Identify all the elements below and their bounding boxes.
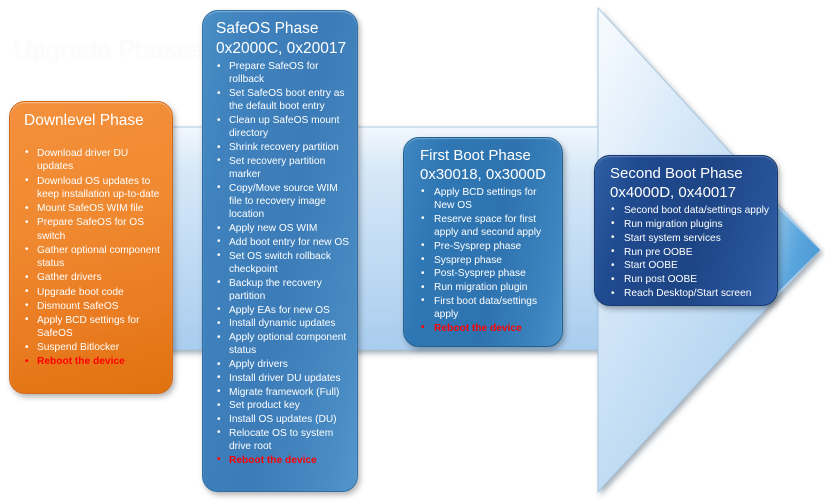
list-item: Install dynamic updates [216,317,351,330]
list-item: Migrate framework (Full) [216,386,351,399]
list-item: Set OS switch rollback checkpoint [216,250,351,277]
list-item: Add boot entry for new OS [216,236,351,249]
list-item: Backup the recovery partition [216,277,351,304]
list-item: Download OS updates to keep installation… [24,175,164,202]
list-item: Apply new OS WIM [216,222,351,235]
list-item: Run pre OOBE [610,246,771,259]
list-item: Reach Desktop/Start screen [610,287,771,300]
phase-title-downlevel: Downlevel Phase [24,112,164,131]
arrow-tip-highlight [778,208,820,292]
list-item: Install driver DU updates [216,372,351,385]
phase-code-first-boot: 0x30018, 0x3000D [420,166,556,184]
phase-item-list-first-boot: Apply BCD settings for New OS Reserve sp… [420,186,556,335]
list-item: Set recovery partition marker [216,155,351,182]
list-item: Download driver DU updates [24,147,164,174]
diagram-canvas: Upgrade Phases [0,0,825,501]
list-item-reboot: Reboot the device [216,454,351,467]
list-item: Gather optional component status [24,244,164,271]
list-item: Mount SafeOS WIM file [24,202,164,216]
list-item: Shrink recovery partition [216,141,351,154]
list-item: Sysprep phase [420,254,556,267]
list-item: Apply BCD settings for SafeOS [24,314,164,341]
list-item: Run post OOBE [610,273,771,286]
phase-box-first-boot[interactable]: First Boot Phase 0x30018, 0x3000D Apply … [403,137,563,347]
phase-box-downlevel[interactable]: Downlevel Phase Download driver DU updat… [9,101,173,394]
list-item: Start system services [610,232,771,245]
list-item: Prepare SafeOS for OS switch [24,216,164,243]
list-item: Pre-Sysprep phase [420,240,556,253]
list-item: Upgrade boot code [24,286,164,300]
phase-code-safeos: 0x2000C, 0x20017 [216,40,351,58]
list-item: Suspend Bitlocker [24,341,164,355]
phase-item-list-safeos: Prepare SafeOS for rollback Set SafeOS b… [216,60,351,467]
list-item: Relocate OS to system drive root [216,427,351,454]
list-item: First boot data/settings apply [420,295,556,322]
list-item: Start OOBE [610,259,771,272]
phase-code-second-boot: 0x4000D, 0x40017 [610,184,771,202]
list-item: Install OS updates (DU) [216,413,351,426]
list-item: Run migration plugin [420,281,556,294]
list-item-reboot: Reboot the device [24,355,164,369]
phase-box-safeos[interactable]: SafeOS Phase 0x2000C, 0x20017 Prepare Sa… [202,10,358,492]
list-item: Prepare SafeOS for rollback [216,60,351,87]
list-item: Apply drivers [216,358,351,371]
list-item: Set product key [216,399,351,412]
list-item: Set SafeOS boot entry as the default boo… [216,87,351,114]
list-item-reboot: Reboot the device [420,322,556,335]
phase-title-first-boot: First Boot Phase [420,147,556,165]
list-item: Run migration plugins [610,218,771,231]
list-item: Apply EAs for new OS [216,304,351,317]
list-item: Gather drivers [24,271,164,285]
phase-title-safeos: SafeOS Phase [216,20,351,39]
list-item: Second boot data/settings apply [610,204,771,217]
list-item: Apply optional component status [216,331,351,358]
list-item: Post-Sysprep phase [420,267,556,280]
phase-box-second-boot[interactable]: Second Boot Phase 0x4000D, 0x40017 Secon… [594,155,778,306]
list-item: Apply BCD settings for New OS [420,186,556,213]
list-item: Copy/Move source WIM file to recovery im… [216,182,351,222]
phase-item-list-second-boot: Second boot data/settings apply Run migr… [610,204,771,301]
list-item: Clean up SafeOS mount directory [216,114,351,141]
list-item: Reserve space for first apply and second… [420,213,556,240]
phase-title-second-boot: Second Boot Phase [610,165,771,183]
phase-item-list-downlevel: Download driver DU updates Download OS u… [24,147,164,369]
list-item: Dismount SafeOS [24,300,164,314]
